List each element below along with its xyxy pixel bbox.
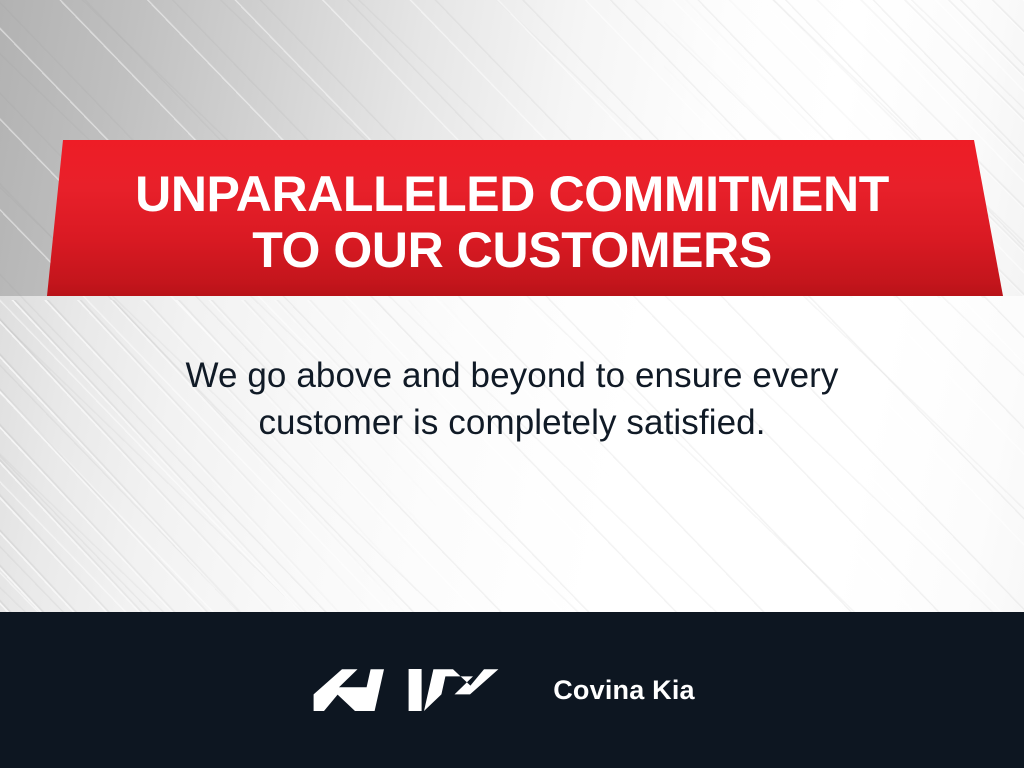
background-lower-band	[0, 296, 1024, 612]
footer-bar: Covina Kia	[0, 612, 1024, 768]
headline-banner	[0, 140, 1024, 296]
promo-slide: UNPARALLELED COMMITMENT TO OUR CUSTOMERS…	[0, 0, 1024, 768]
subtitle-line-1: We go above and beyond to ensure every	[80, 352, 944, 399]
footer-content: Covina Kia	[313, 667, 695, 713]
kia-logo-icon	[313, 667, 499, 713]
dealer-name: Covina Kia	[553, 675, 695, 706]
subtitle-line-2: customer is completely satisfied.	[80, 399, 944, 446]
subtitle-text: We go above and beyond to ensure every c…	[80, 352, 944, 447]
